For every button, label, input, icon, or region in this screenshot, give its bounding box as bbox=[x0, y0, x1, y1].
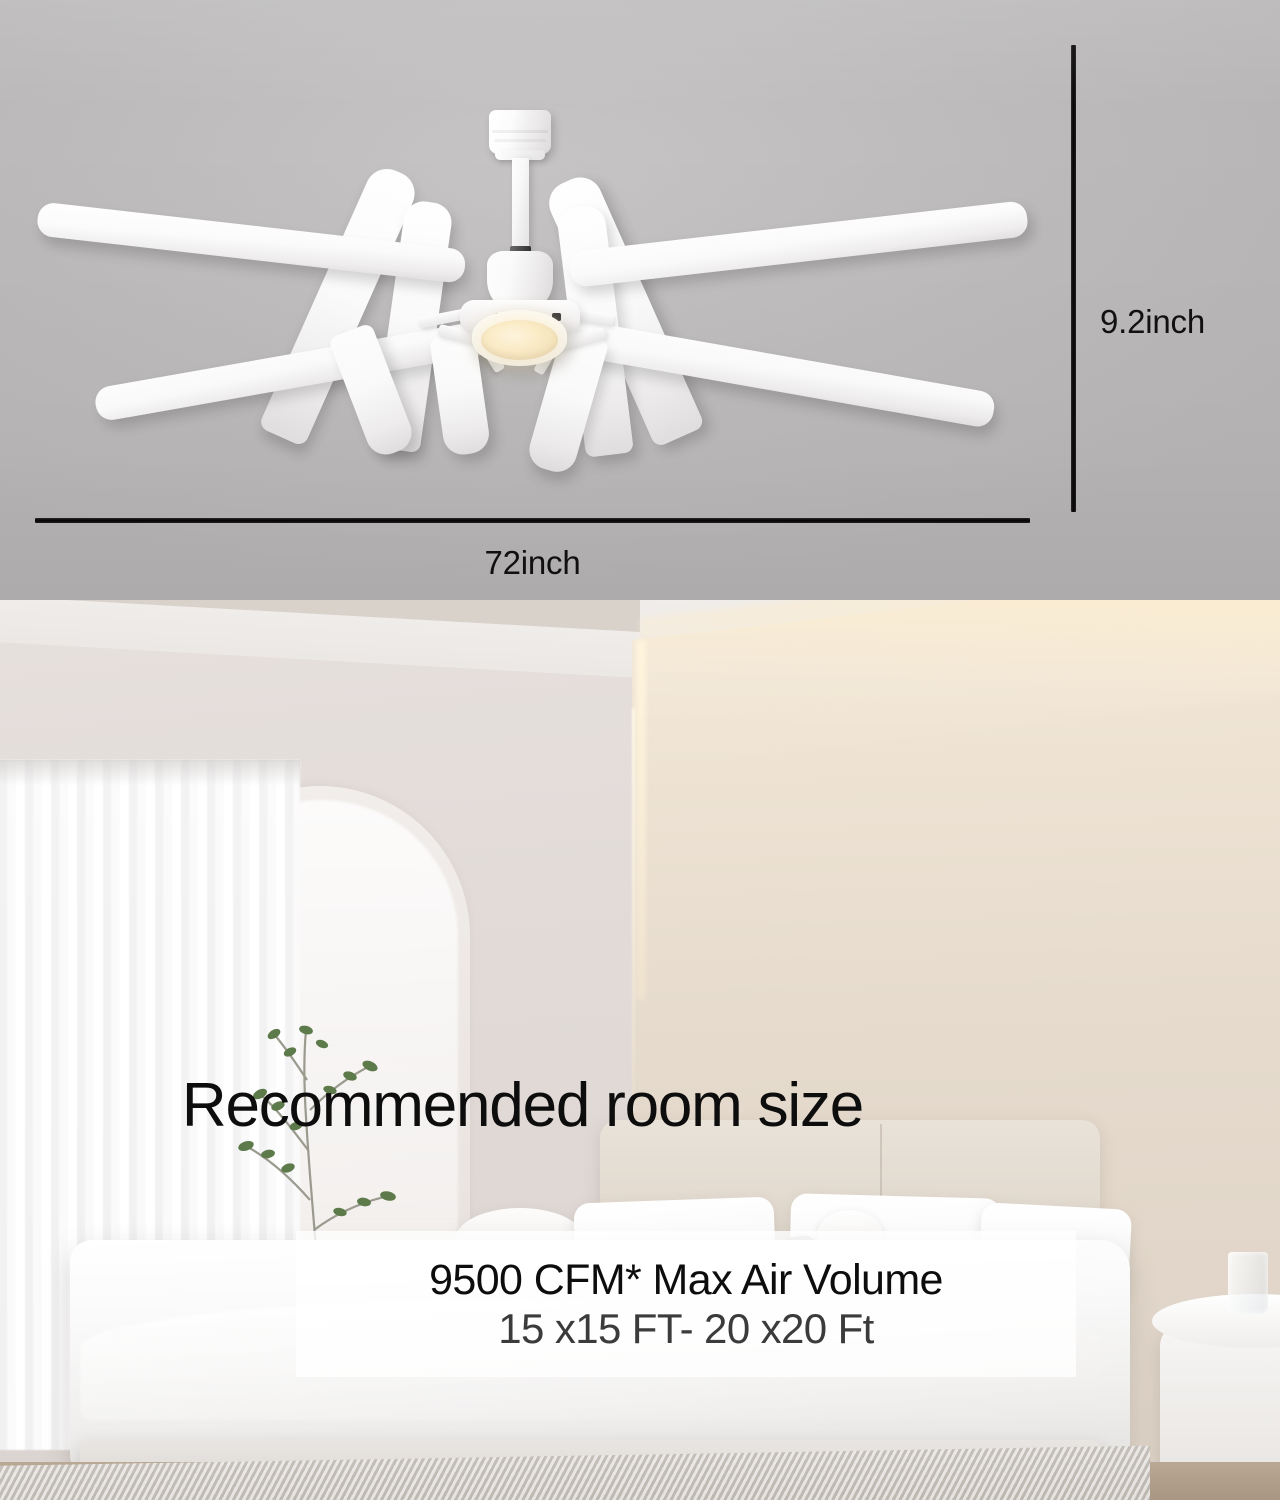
height-dimension-label: 9.2inch bbox=[1100, 303, 1205, 341]
product-infographic: 72inch 9.2inch bbox=[0, 0, 1280, 1500]
ceiling-fan-illustration bbox=[0, 0, 1030, 500]
curtain-top-shadow bbox=[0, 760, 300, 786]
led-light-lens bbox=[481, 320, 558, 360]
max-air-volume-text: 9500 CFM* Max Air Volume bbox=[429, 1257, 943, 1303]
fan-canopy bbox=[489, 110, 551, 154]
fan-blade-right-outer bbox=[568, 200, 1029, 288]
water-glass bbox=[1228, 1252, 1268, 1314]
width-dimension-label: 72inch bbox=[0, 544, 1065, 582]
width-dimension-line bbox=[35, 518, 1030, 523]
room-size-range-text: 15 x15 FT- 20 x20 Ft bbox=[498, 1306, 874, 1351]
height-dimension-line bbox=[1071, 45, 1076, 512]
cove-light-strip bbox=[636, 640, 646, 1000]
headline-recommended-room-size: Recommended room size bbox=[0, 1075, 1045, 1137]
dimension-diagram-panel: 72inch 9.2inch bbox=[0, 0, 1280, 600]
fan-downrod bbox=[512, 158, 529, 250]
spec-info-box: 9500 CFM* Max Air Volume 15 x15 FT- 20 x… bbox=[296, 1231, 1076, 1377]
